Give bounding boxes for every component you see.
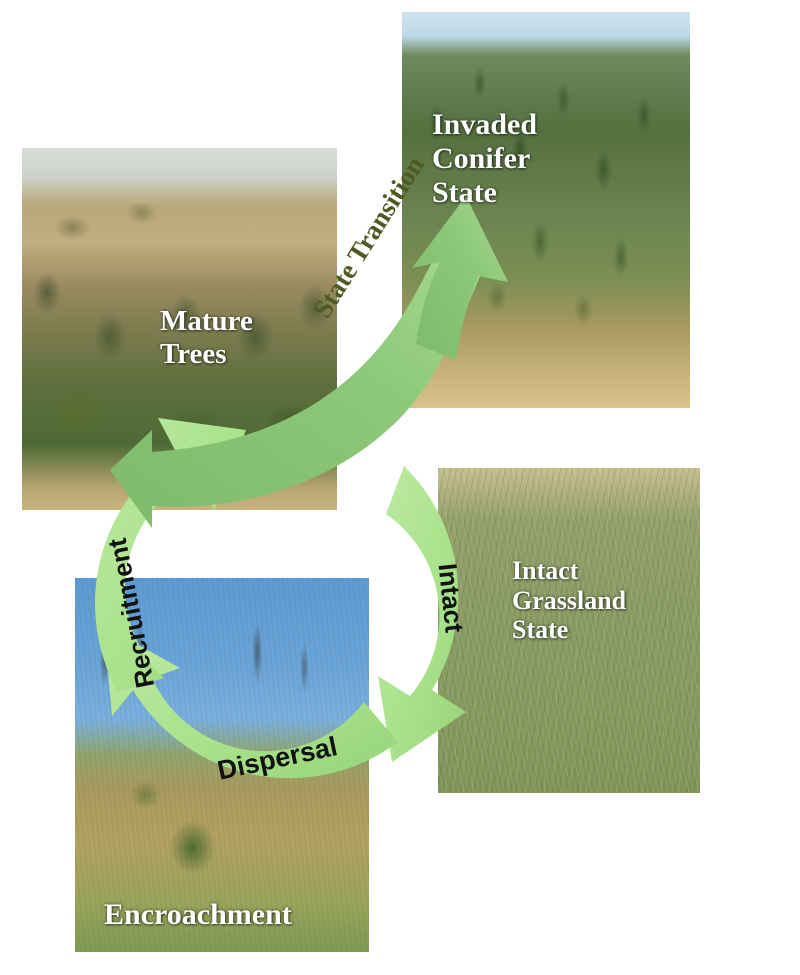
intact-grassland-state-caption: Intact Grassland State	[512, 556, 626, 645]
mature-trees-caption: Mature Trees	[160, 305, 253, 371]
encroachment-caption: Encroachment	[104, 898, 292, 932]
figure-canvas: State Transition Intact Dispersal Recrui…	[0, 0, 800, 975]
invaded-conifer-state-caption: Invaded Conifer State	[432, 108, 537, 211]
